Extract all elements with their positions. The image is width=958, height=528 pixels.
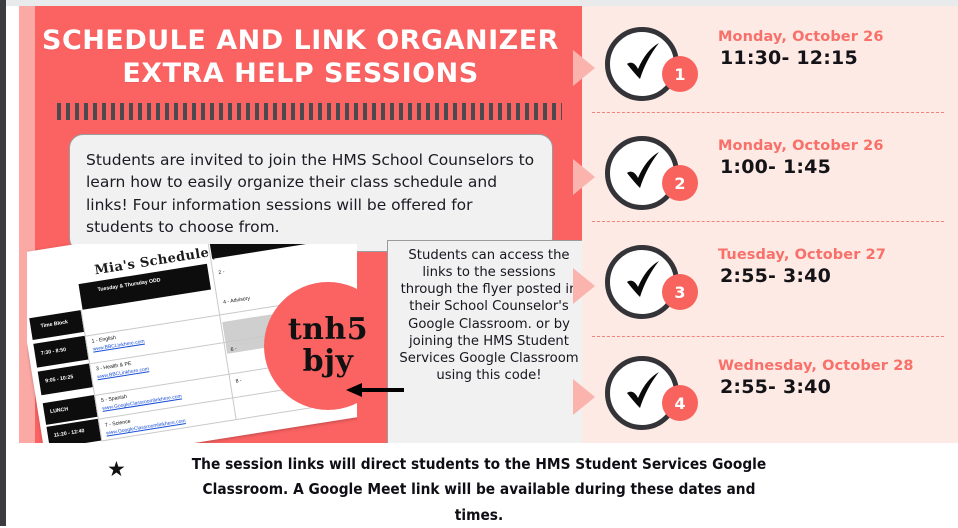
star-icon: ★ [107, 457, 126, 482]
title-line-2: Extra Help Sessions [39, 57, 562, 90]
intro-text: Students are invited to join the HMS Sch… [86, 151, 534, 236]
flyer-left-panel: Schedule and Link Organizer Extra Help S… [19, 6, 582, 443]
session-date: Tuesday, October 27 [718, 247, 886, 263]
schedule-even-class-4: 8 - [235, 378, 242, 385]
session-number-badge: 3 [662, 274, 698, 310]
page-title: Schedule and Link Organizer Extra Help S… [39, 24, 562, 91]
check-icon [623, 371, 665, 413]
session-number-badge: 1 [662, 56, 698, 92]
footer-note: ★ The session links will direct students… [0, 452, 958, 528]
access-text: Students can access the links to the ses… [396, 247, 582, 384]
class-code-text: tnh5 bjy [264, 314, 392, 378]
session-row[interactable]: 4 Wednesday, October 28 2:55- 3:40 [582, 343, 958, 451]
sessions-panel: 1 Monday, October 26 11:30- 12:15 2 Mond… [582, 6, 958, 443]
session-separator [592, 336, 944, 337]
session-time: 11:30- 12:15 [720, 47, 858, 69]
arrow-left-icon [346, 382, 404, 398]
session-date: Monday, October 26 [718, 138, 884, 154]
session-number-badge: 4 [662, 385, 698, 421]
session-date: Monday, October 26 [718, 29, 884, 45]
intro-callout: Students are invited to join the HMS Sch… [69, 134, 553, 252]
schedule-header-even-bar [208, 244, 357, 259]
check-icon [623, 42, 665, 84]
footer-inner: ★ The session links will direct students… [169, 452, 789, 528]
dashed-divider [57, 103, 562, 120]
pointer-triangle-icon [573, 268, 595, 304]
left-white-margin [6, 6, 19, 443]
check-icon [623, 151, 665, 193]
check-icon [623, 260, 665, 302]
session-row[interactable]: 2 Monday, October 26 1:00- 1:45 [582, 123, 958, 231]
pointer-triangle-icon [573, 159, 595, 195]
session-separator [592, 221, 944, 222]
session-row[interactable]: 1 Monday, October 26 11:30- 12:15 [582, 14, 958, 122]
session-separator [592, 112, 944, 113]
title-line-1: Schedule and Link Organizer [42, 25, 559, 56]
session-date: Wednesday, October 28 [718, 358, 914, 374]
session-number-badge: 2 [662, 165, 698, 201]
session-time: 2:55- 3:40 [720, 376, 831, 398]
session-time: 2:55- 3:40 [720, 265, 831, 287]
schedule-even-class-1: 2 - [218, 269, 225, 276]
session-time: 1:00- 1:45 [720, 156, 831, 178]
access-callout: Students can access the links to the ses… [387, 240, 582, 443]
schedule-even-class-3: 6 - [230, 346, 237, 353]
pointer-triangle-icon [573, 379, 595, 415]
footer-text: The session links will direct students t… [191, 452, 768, 528]
left-edge-rail [0, 0, 6, 526]
session-row[interactable]: 3 Tuesday, October 27 2:55- 3:40 [582, 232, 958, 340]
schedule-even-class-2: 4 - Advisory [223, 296, 251, 306]
pointer-triangle-icon [573, 50, 595, 86]
